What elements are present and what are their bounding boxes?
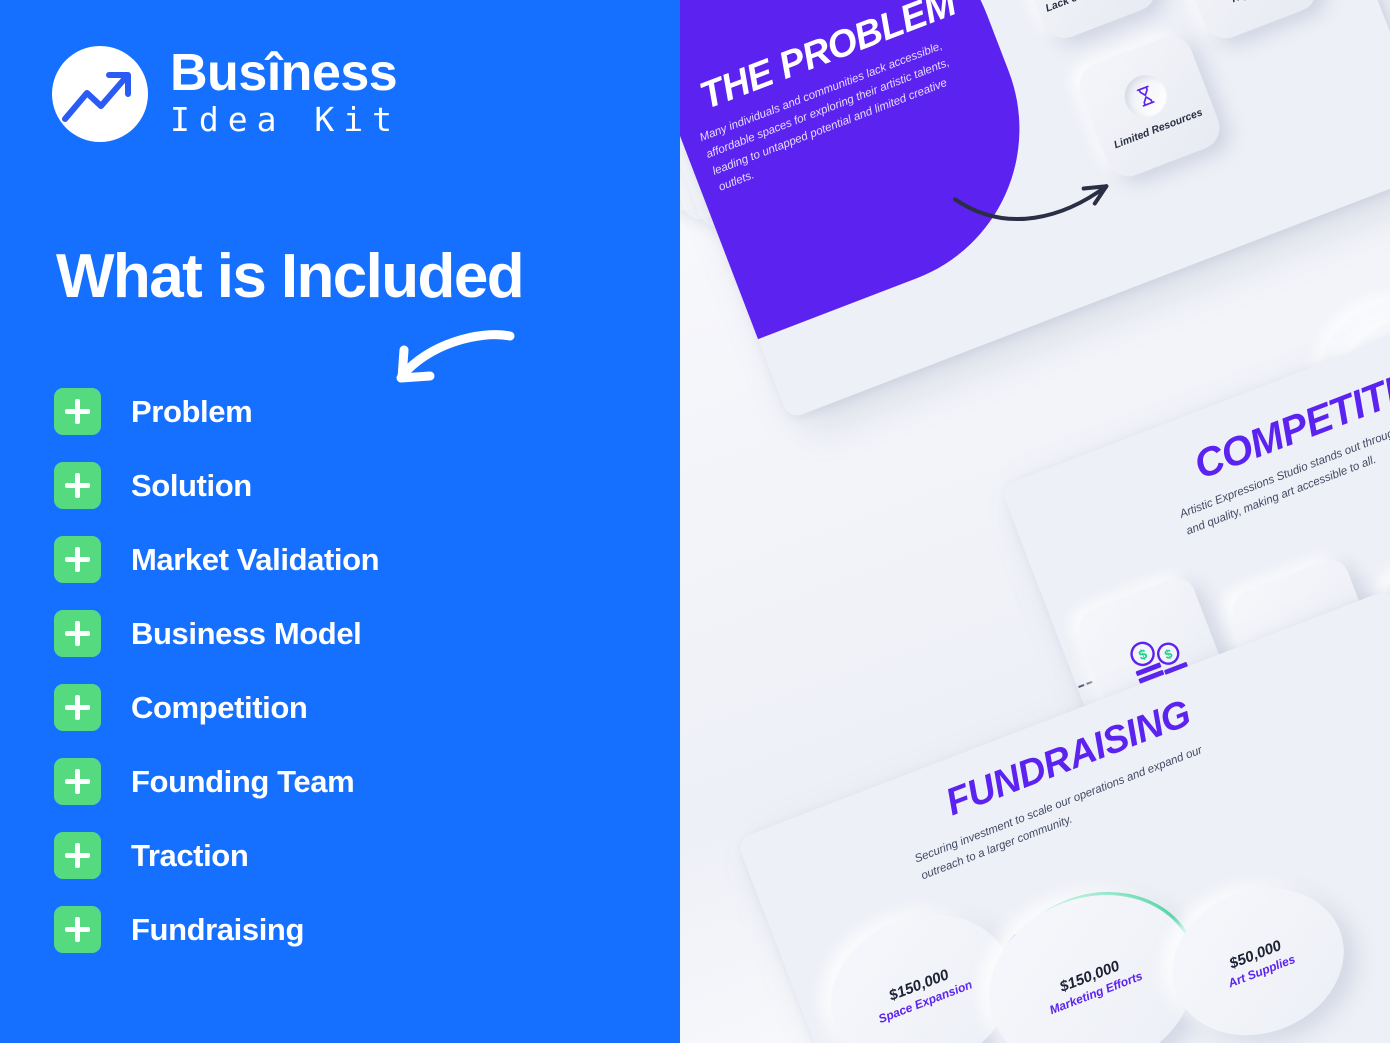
feature-label: Business Model xyxy=(131,616,361,652)
competition-connector xyxy=(1062,681,1093,694)
included-feature-list: Problem Solution Market Validation Busin… xyxy=(54,388,379,953)
page-title: What is Included xyxy=(56,246,523,308)
feature-label: Founding Team xyxy=(131,764,354,800)
feature-label: Fundraising xyxy=(131,912,304,948)
feature-item-problem[interactable]: Problem xyxy=(54,388,379,435)
slide-the-problem[interactable]: THE PROBLEM Many individuals and communi… xyxy=(620,0,1390,419)
plus-icon xyxy=(54,684,101,731)
feature-item-solution[interactable]: Solution xyxy=(54,462,379,509)
feature-item-competition[interactable]: Competition xyxy=(54,684,379,731)
feature-item-fundraising[interactable]: Fundraising xyxy=(54,906,379,953)
hourglass-icon xyxy=(1119,69,1173,123)
problem-card-limited-resources[interactable]: Limited Resources xyxy=(1073,30,1225,182)
left-blue-panel: Busîness Idea Kit What is Included Probl… xyxy=(0,0,680,1043)
feature-item-business-model[interactable]: Business Model xyxy=(54,610,379,657)
feature-label: Traction xyxy=(131,838,248,874)
feature-item-traction[interactable]: Traction xyxy=(54,832,379,879)
problem-card-label: Limited Resources xyxy=(1112,107,1204,153)
problem-card-accessibility[interactable]: Lack of Accessibility xyxy=(1010,0,1162,44)
brand-wordmark: Busîness Idea Kit xyxy=(170,47,401,140)
brand-name-main: Busîness xyxy=(170,47,401,99)
brand-logo[interactable]: Busîness Idea Kit xyxy=(52,46,401,142)
plus-icon xyxy=(54,388,101,435)
feature-label: Problem xyxy=(131,394,252,430)
feature-item-market-validation[interactable]: Market Validation xyxy=(54,536,379,583)
feature-label: Market Validation xyxy=(131,542,379,578)
brand-name-sub: Idea Kit xyxy=(170,99,401,140)
curved-arrow-down-left-icon xyxy=(388,326,518,391)
plus-icon xyxy=(54,610,101,657)
plus-icon xyxy=(54,462,101,509)
feature-label: Solution xyxy=(131,468,252,504)
slide-fundraising[interactable]: FUNDRAISING Securing investment to scale… xyxy=(736,589,1390,1043)
problem-card-label: High Cost xyxy=(1230,0,1281,7)
feature-item-founding-team[interactable]: Founding Team xyxy=(54,758,379,805)
plus-icon xyxy=(54,758,101,805)
plus-icon xyxy=(54,536,101,583)
plus-icon xyxy=(54,906,101,953)
plus-icon xyxy=(54,832,101,879)
feature-label: Competition xyxy=(131,690,307,726)
problem-card-label: Lack of Accessibility xyxy=(1044,0,1145,16)
trend-up-circle-icon xyxy=(52,46,148,142)
poster-canvas: Drop-in Fees Art Education Workshops 1,2… xyxy=(0,0,1390,1043)
problem-card-high-cost[interactable]: High Cost xyxy=(1170,0,1322,45)
